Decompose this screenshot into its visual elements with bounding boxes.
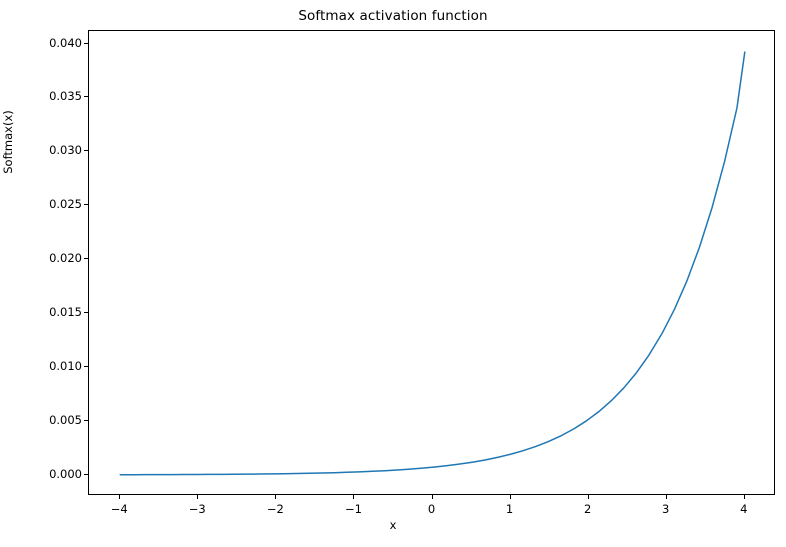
x-axis-tick-mark	[744, 495, 745, 499]
y-axis-tick-mark	[84, 96, 88, 97]
matplotlib-figure: Softmax activation function 0.0000.0050.…	[0, 0, 786, 547]
x-axis-tick-mark	[119, 495, 120, 499]
x-axis-tick-label: 3	[646, 502, 686, 516]
y-axis-tick-mark	[84, 204, 88, 205]
softmax-curve	[120, 52, 745, 475]
x-axis-tick-label: 1	[490, 502, 530, 516]
x-axis-tick-label: −4	[99, 502, 139, 516]
x-axis-tick-label: −1	[333, 502, 373, 516]
x-axis-tick-mark	[197, 495, 198, 499]
plot-axes-frame	[88, 30, 775, 495]
x-axis-label: x	[0, 518, 786, 532]
y-axis-tick-label: 0.040	[32, 36, 82, 50]
y-axis-tick-label: 0.000	[32, 467, 82, 481]
x-axis-tick-mark	[432, 495, 433, 499]
y-axis-tick-mark	[84, 366, 88, 367]
x-axis-tick-label: 0	[412, 502, 452, 516]
y-axis-tick-mark	[84, 258, 88, 259]
y-axis-tick-label: 0.010	[32, 359, 82, 373]
y-axis-label: Softmax(x)	[1, 12, 15, 272]
y-axis-tick-label: 0.035	[32, 89, 82, 103]
y-axis-tick-mark	[84, 43, 88, 44]
y-axis-tick-label: 0.020	[32, 251, 82, 265]
x-axis-tick-mark	[275, 495, 276, 499]
y-axis-tick-label: 0.015	[32, 305, 82, 319]
x-axis-tick-mark	[510, 495, 511, 499]
x-axis-tick-mark	[588, 495, 589, 499]
y-axis-tick-label: 0.025	[32, 197, 82, 211]
y-axis-tick-mark	[84, 312, 88, 313]
y-axis-tick-mark	[84, 150, 88, 151]
y-axis-tick-mark	[84, 474, 88, 475]
plot-canvas	[89, 31, 776, 496]
x-axis-tick-label: 4	[724, 502, 764, 516]
x-axis-tick-mark	[353, 495, 354, 499]
y-axis-tick-mark	[84, 420, 88, 421]
y-axis-tick-label: 0.030	[32, 143, 82, 157]
chart-title: Softmax activation function	[0, 8, 786, 24]
x-axis-tick-label: 2	[568, 502, 608, 516]
x-axis-tick-label: −3	[177, 502, 217, 516]
x-axis-tick-mark	[666, 495, 667, 499]
x-axis-tick-label: −2	[255, 502, 295, 516]
y-axis-tick-label: 0.005	[32, 413, 82, 427]
